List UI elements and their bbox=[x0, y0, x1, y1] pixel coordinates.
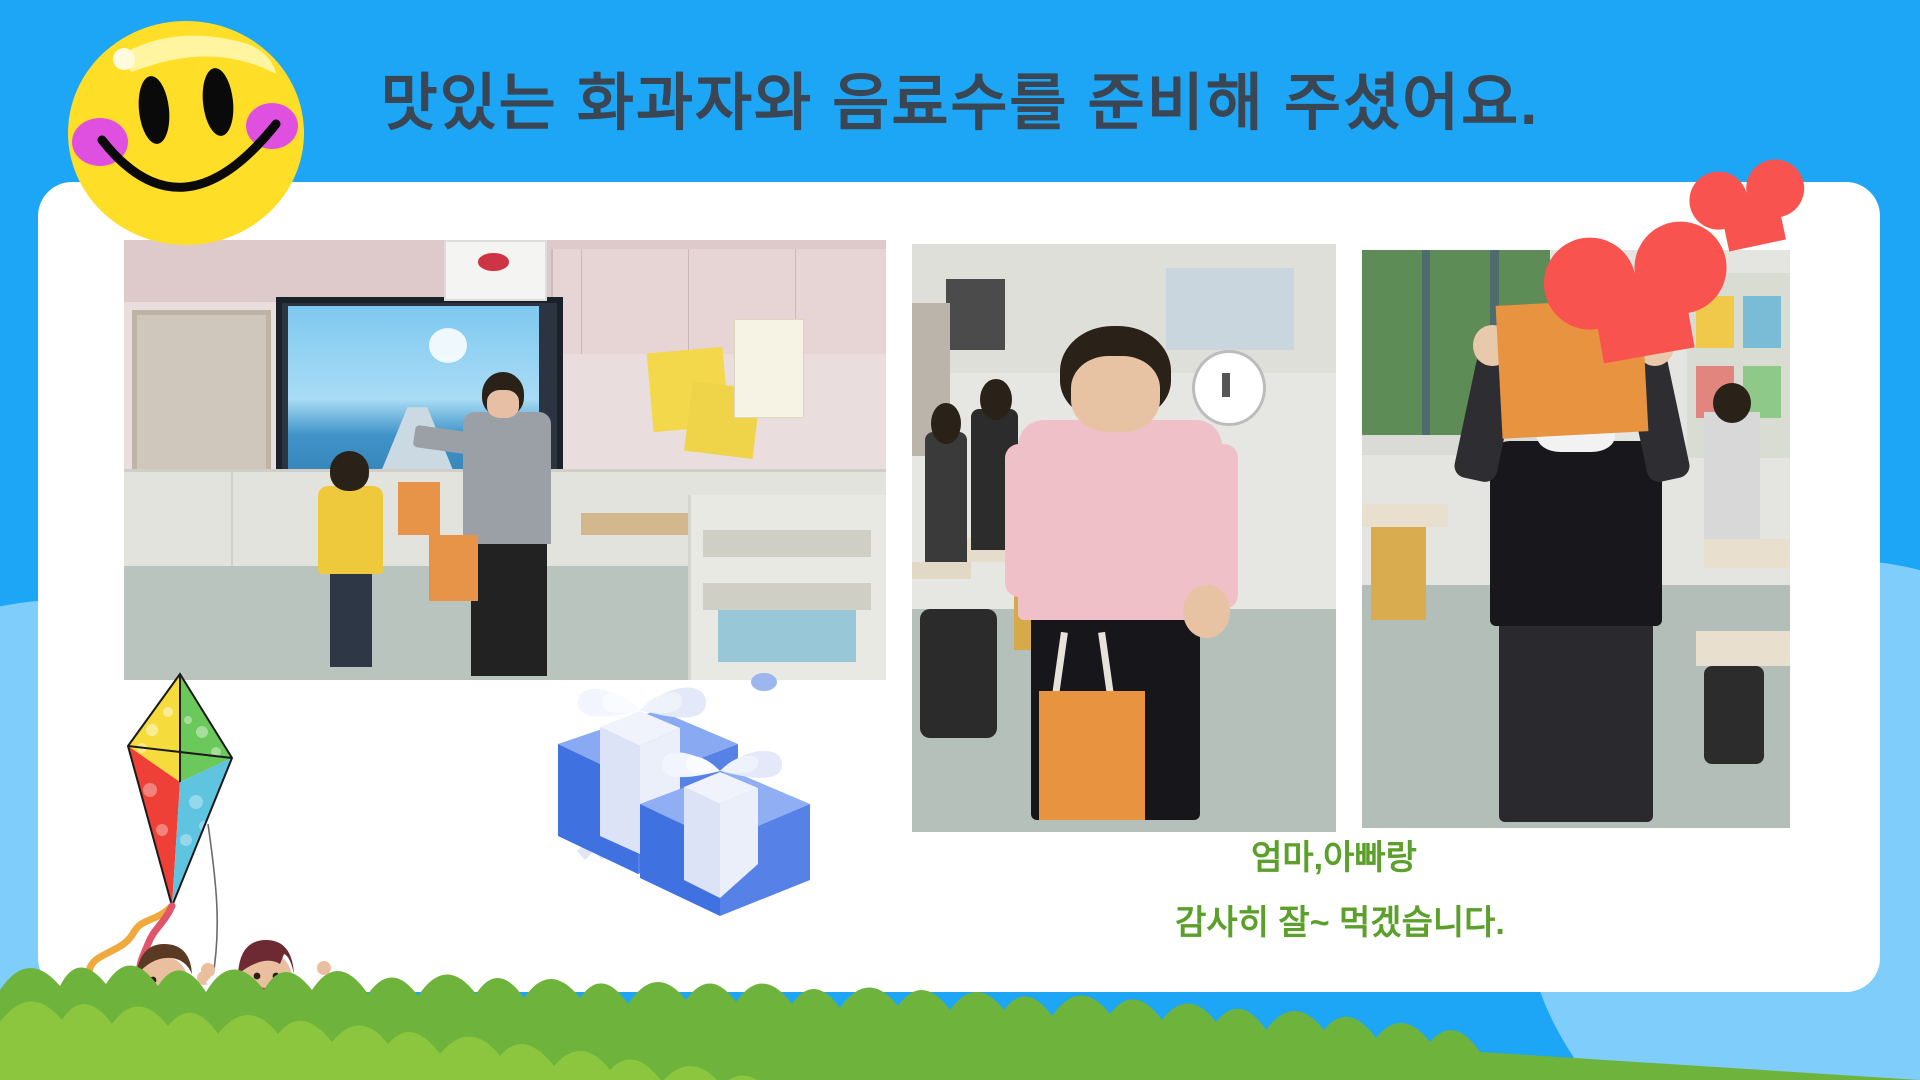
girl-character bbox=[201, 940, 331, 1080]
photo-boy-holding-box-overhead bbox=[1362, 250, 1790, 828]
photo-boy-pink-shirt-with-bag bbox=[912, 244, 1336, 832]
kite-and-children-illustration bbox=[80, 660, 400, 1080]
photo-classroom-gift-handover bbox=[124, 240, 886, 680]
caption-line-1: 엄마,아빠랑 bbox=[1100, 826, 1580, 891]
boy-character bbox=[129, 944, 211, 1080]
slide-canvas: 맛있는 화과자와 음료수를 준비해 주셨어요. bbox=[0, 0, 1920, 1080]
heart-icon-large bbox=[1589, 265, 1694, 364]
thank-you-caption: 엄마,아빠랑 감사히 잘~ 먹겠습니다. bbox=[1100, 826, 1580, 955]
smiley-face-icon bbox=[62, 14, 310, 252]
caption-line-2: 감사히 잘~ 먹겠습니다. bbox=[1100, 891, 1580, 956]
gift-boxes-icon bbox=[548, 658, 878, 918]
kite-icon bbox=[89, 674, 232, 982]
